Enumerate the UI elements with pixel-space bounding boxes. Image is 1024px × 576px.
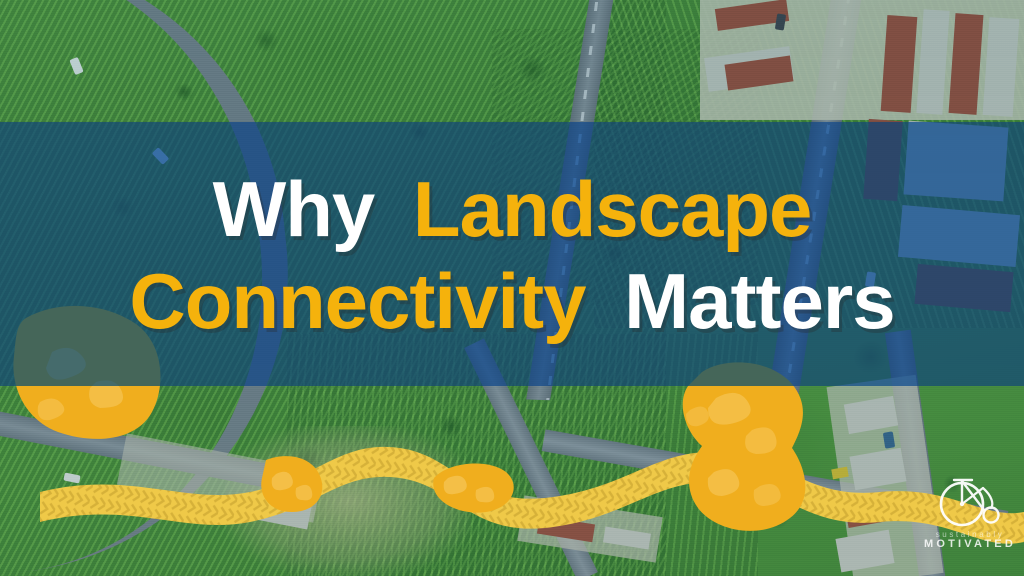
title-word-why: Why (213, 165, 375, 253)
title-block: Why Landscape Connectivity Matters (0, 150, 1024, 360)
habitat-patch-right (683, 362, 806, 530)
sustainably-motivated-logo[interactable]: sustainably MOTIVATED (922, 470, 1018, 550)
title-word-matters: Matters (624, 257, 894, 345)
penny-farthing-bicycle-icon (934, 470, 1006, 528)
title-word-connectivity: Connectivity (129, 257, 585, 345)
title-word-landscape: Landscape (413, 165, 811, 253)
wildlife-corridor-chain (0, 420, 1024, 576)
slide-canvas: Why Landscape Connectivity Matters susta… (0, 0, 1024, 576)
title-line-1: Why Landscape (213, 171, 812, 247)
logo-wordmark: MOTIVATED (924, 538, 1016, 550)
title-line-2: Connectivity Matters (129, 263, 894, 339)
habitat-patch-mid-small (261, 456, 322, 512)
habitat-patch-mid-right (433, 463, 513, 512)
